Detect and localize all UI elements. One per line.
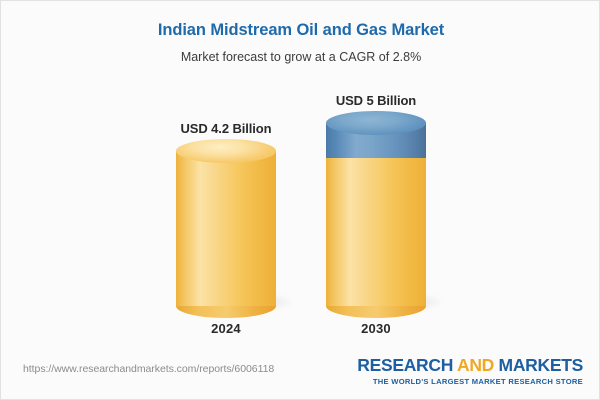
chart-card: Indian Midstream Oil and Gas Market Mark…: [0, 0, 600, 400]
cylinder-top-ellipse: [176, 139, 276, 163]
chart-footer: https://www.researchandmarkets.com/repor…: [1, 353, 600, 399]
bar-segment-growth-2030: [326, 123, 426, 158]
category-label-2030: 2030: [276, 321, 476, 336]
bar-cylinder-2024: [176, 151, 276, 306]
brand-name-part2: MARKETS: [494, 355, 583, 375]
brand-name: RESEARCH AND MARKETS: [357, 355, 583, 375]
cylinder-top-ellipse: [326, 111, 426, 135]
bar-segment-base-2024: [176, 151, 276, 306]
bar-value-label-2024: USD 4.2 Billion: [126, 121, 326, 136]
brand-tagline: THE WORLD'S LARGEST MARKET RESEARCH STOR…: [357, 376, 583, 387]
research-and-markets-logo[interactable]: RESEARCH AND MARKETS THE WORLD'S LARGEST…: [357, 355, 583, 387]
bar-cylinder-2030: [326, 123, 426, 306]
brand-name-part1: RESEARCH: [357, 355, 457, 375]
cylinder-body: [176, 151, 276, 306]
bar-value-label-2030: USD 5 Billion: [276, 93, 476, 108]
bar-segment-base-2030: [326, 158, 426, 306]
report-url-link[interactable]: https://www.researchandmarkets.com/repor…: [23, 363, 274, 375]
chart-plot-area: USD 4.2 Billion USD 5 Billion: [1, 1, 600, 400]
brand-name-and: AND: [457, 355, 494, 375]
cylinder-body: [326, 158, 426, 306]
